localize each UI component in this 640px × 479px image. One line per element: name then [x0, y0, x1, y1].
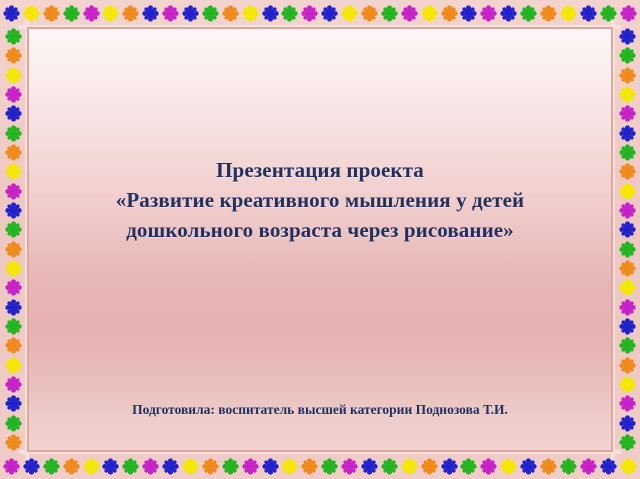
puzzle-piece-icon [23, 458, 40, 475]
puzzle-piece-icon [600, 5, 617, 22]
puzzle-piece-icon [600, 458, 617, 475]
puzzle-piece-icon [460, 458, 477, 475]
page-title: Презентация проекта «Развитие креативног… [29, 155, 611, 245]
puzzle-piece-icon [5, 86, 22, 103]
puzzle-piece-icon [619, 241, 636, 258]
puzzle-piece-icon [381, 5, 398, 22]
puzzle-piece-icon [5, 337, 22, 354]
puzzle-piece-icon [63, 458, 80, 475]
puzzle-piece-icon [619, 28, 636, 45]
puzzle-piece-icon [619, 202, 636, 219]
puzzle-piece-icon [560, 458, 577, 475]
puzzle-piece-icon [262, 5, 279, 22]
puzzle-piece-icon [500, 5, 517, 22]
puzzle-piece-icon [5, 47, 22, 64]
puzzle-piece-icon [23, 5, 40, 22]
puzzle-piece-icon [242, 458, 259, 475]
puzzle-piece-icon [460, 5, 477, 22]
puzzle-piece-icon [619, 357, 636, 374]
puzzle-piece-icon [301, 458, 318, 475]
puzzle-piece-icon [202, 5, 219, 22]
puzzle-piece-icon [83, 458, 100, 475]
puzzle-piece-icon [5, 279, 22, 296]
slide-canvas: Презентация проекта «Развитие креативног… [29, 29, 611, 450]
puzzle-piece-icon [102, 5, 119, 22]
puzzle-piece-icon [222, 458, 239, 475]
puzzle-piece-icon [619, 434, 636, 451]
puzzle-piece-icon [5, 241, 22, 258]
puzzle-piece-icon [480, 458, 497, 475]
puzzle-piece-icon [5, 221, 22, 238]
puzzle-piece-icon [142, 5, 159, 22]
puzzle-piece-icon [580, 5, 597, 22]
puzzle-piece-icon [222, 5, 239, 22]
puzzle-piece-icon [122, 5, 139, 22]
puzzle-piece-icon [619, 376, 636, 393]
puzzle-piece-icon [421, 458, 438, 475]
puzzle-piece-icon [5, 125, 22, 142]
puzzle-piece-icon [421, 5, 438, 22]
puzzle-piece-icon [520, 458, 537, 475]
puzzle-piece-icon [262, 458, 279, 475]
puzzle-piece-icon [43, 5, 60, 22]
puzzle-piece-icon [5, 144, 22, 161]
puzzle-piece-icon [5, 183, 22, 200]
puzzle-piece-icon [5, 28, 22, 45]
puzzle-piece-icon [619, 183, 636, 200]
puzzle-piece-icon [5, 415, 22, 432]
puzzle-piece-icon [43, 458, 60, 475]
puzzle-piece-icon [5, 395, 22, 412]
puzzle-piece-icon [182, 458, 199, 475]
puzzle-piece-icon [361, 5, 378, 22]
puzzle-piece-icon [281, 5, 298, 22]
puzzle-piece-icon [162, 458, 179, 475]
puzzle-piece-icon [122, 458, 139, 475]
puzzle-piece-icon [5, 105, 22, 122]
puzzle-piece-icon [202, 458, 219, 475]
puzzle-piece-icon [5, 376, 22, 393]
puzzle-piece-icon [5, 299, 22, 316]
author-credit: Подготовила: воспитатель высшей категори… [29, 401, 611, 419]
puzzle-piece-icon [619, 221, 636, 238]
puzzle-piece-icon [341, 5, 358, 22]
puzzle-border-bottom [0, 453, 640, 479]
puzzle-piece-icon [63, 5, 80, 22]
puzzle-piece-icon [619, 260, 636, 277]
puzzle-piece-icon [441, 5, 458, 22]
puzzle-piece-icon [162, 5, 179, 22]
puzzle-piece-icon [83, 5, 100, 22]
puzzle-border-right [614, 26, 640, 453]
presentation-title-slide: Презентация проекта «Развитие креативног… [0, 0, 640, 479]
puzzle-piece-icon [619, 47, 636, 64]
puzzle-piece-icon [619, 318, 636, 335]
puzzle-piece-icon [619, 67, 636, 84]
puzzle-piece-icon [580, 458, 597, 475]
puzzle-piece-icon [321, 458, 338, 475]
puzzle-piece-icon [3, 5, 20, 22]
puzzle-piece-icon [540, 458, 557, 475]
puzzle-piece-icon [619, 395, 636, 412]
puzzle-piece-icon [619, 86, 636, 103]
puzzle-piece-icon [619, 279, 636, 296]
puzzle-piece-icon [401, 458, 418, 475]
title-line-3: дошкольного возраста через рисование» [29, 215, 611, 245]
puzzle-piece-icon [500, 458, 517, 475]
puzzle-piece-icon [560, 5, 577, 22]
puzzle-piece-icon [620, 5, 637, 22]
puzzle-border-left [0, 26, 26, 453]
puzzle-piece-icon [620, 458, 637, 475]
puzzle-piece-icon [242, 5, 259, 22]
puzzle-piece-icon [5, 318, 22, 335]
puzzle-piece-icon [182, 5, 199, 22]
puzzle-piece-icon [619, 125, 636, 142]
puzzle-piece-icon [5, 67, 22, 84]
puzzle-piece-icon [5, 434, 22, 451]
puzzle-piece-icon [5, 357, 22, 374]
puzzle-piece-icon [281, 458, 298, 475]
title-line-1: Презентация проекта [29, 155, 611, 185]
puzzle-piece-icon [142, 458, 159, 475]
puzzle-piece-icon [5, 163, 22, 180]
puzzle-piece-icon [381, 458, 398, 475]
puzzle-piece-icon [619, 144, 636, 161]
puzzle-piece-icon [619, 105, 636, 122]
puzzle-piece-icon [619, 299, 636, 316]
puzzle-piece-icon [301, 5, 318, 22]
puzzle-piece-icon [540, 5, 557, 22]
puzzle-piece-icon [619, 163, 636, 180]
puzzle-piece-icon [5, 202, 22, 219]
puzzle-piece-icon [5, 260, 22, 277]
puzzle-piece-icon [341, 458, 358, 475]
puzzle-piece-icon [3, 458, 20, 475]
puzzle-piece-icon [619, 337, 636, 354]
puzzle-piece-icon [441, 458, 458, 475]
puzzle-border-top [0, 0, 640, 26]
puzzle-piece-icon [401, 5, 418, 22]
puzzle-piece-icon [361, 458, 378, 475]
puzzle-piece-icon [520, 5, 537, 22]
puzzle-piece-icon [480, 5, 497, 22]
puzzle-piece-icon [102, 458, 119, 475]
puzzle-piece-icon [619, 415, 636, 432]
title-line-2: «Развитие креативного мышления у детей [29, 185, 611, 215]
puzzle-piece-icon [321, 5, 338, 22]
